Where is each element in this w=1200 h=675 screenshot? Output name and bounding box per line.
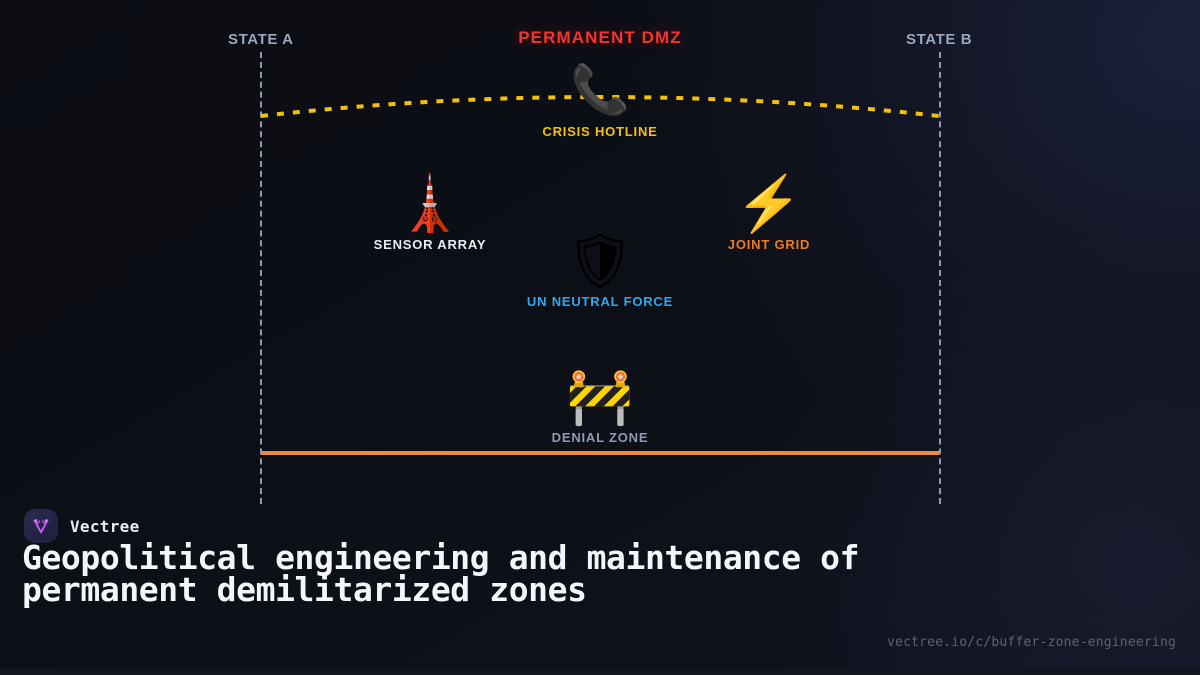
node-label-crisis-hotline: CRISIS HOTLINE bbox=[480, 124, 720, 139]
node-label-un-neutral-force: UN NEUTRAL FORCE bbox=[480, 294, 720, 309]
node-label-denial-zone: DENIAL ZONE bbox=[480, 430, 720, 445]
slide-footer: Vectree Geopolitical engineering and mai… bbox=[0, 500, 1200, 675]
slide-canvas: STATE A STATE B PERMANENT DMZ 📞 CRISIS H… bbox=[0, 0, 1200, 675]
construction-barrier-icon: 🚧 bbox=[480, 368, 720, 426]
node-crisis-hotline[interactable]: 📞 CRISIS HOTLINE bbox=[480, 62, 720, 139]
accent-bar bbox=[0, 669, 1200, 675]
node-un-neutral-force[interactable]: 🛡 UN NEUTRAL FORCE bbox=[480, 232, 720, 309]
node-denial-zone[interactable]: 🚧 DENIAL ZONE bbox=[480, 368, 720, 445]
brand-name: Vectree bbox=[70, 517, 140, 536]
footer-url: vectree.io/c/buffer-zone-engineering bbox=[887, 635, 1176, 650]
tower-icon: 🗼 bbox=[310, 175, 550, 233]
headline: Geopolitical engineering and maintenance… bbox=[22, 542, 882, 606]
dmz-diagram: STATE A STATE B PERMANENT DMZ 📞 CRISIS H… bbox=[0, 0, 1200, 505]
high-voltage-icon: ⚡ bbox=[649, 175, 889, 233]
telephone-receiver-icon: 📞 bbox=[480, 62, 720, 120]
shield-icon: 🛡 bbox=[480, 232, 720, 290]
